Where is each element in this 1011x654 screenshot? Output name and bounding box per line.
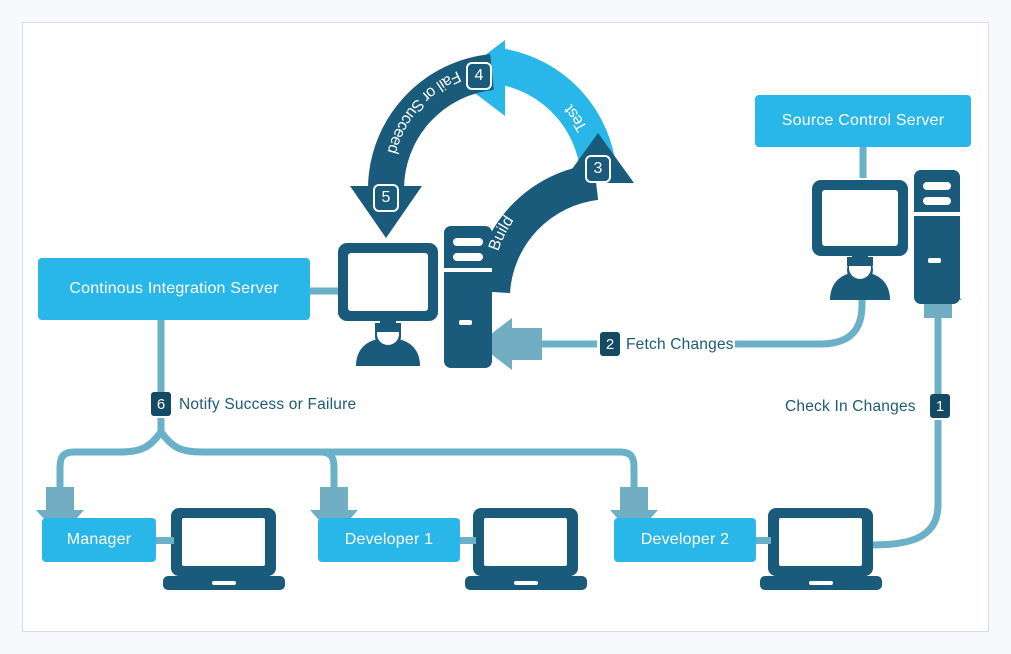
build-arc xyxy=(492,133,634,292)
notify-branch-dev1 xyxy=(161,432,334,487)
ci-tower-divider xyxy=(444,268,492,272)
diagram-page: Test Build Fail or Succeed Continous Int… xyxy=(0,0,1011,654)
ci-tower-led xyxy=(459,320,472,325)
manager-text: Manager xyxy=(67,531,132,549)
notify-branch-manager xyxy=(60,432,161,487)
scm-tower-led xyxy=(928,258,941,263)
step-1-text: Check In Changes xyxy=(785,398,916,415)
step-badge-6: 6 xyxy=(151,392,171,416)
step-label-notify: Notify Success or Failure xyxy=(179,396,356,414)
dev2-laptop-icon xyxy=(749,508,882,590)
scm-tower-icon xyxy=(914,170,960,304)
manager-laptop-icon xyxy=(152,508,285,590)
scm-tower-slot-1 xyxy=(923,182,951,190)
step-3-number: 3 xyxy=(594,160,603,178)
step-6-number: 6 xyxy=(157,396,165,413)
scm-monitor-screen xyxy=(822,190,898,246)
step-1-number: 1 xyxy=(936,398,944,415)
ci-tower-icon xyxy=(444,226,492,368)
step-badge-2: 2 xyxy=(600,332,620,356)
step-2-number: 2 xyxy=(606,336,614,353)
dev2-laptop-trackpad xyxy=(809,581,833,585)
manager-laptop-trackpad xyxy=(212,581,236,585)
node-label-developer-1[interactable]: Developer 1 xyxy=(318,518,460,562)
ci-tower-body xyxy=(444,226,492,368)
developer-2-text: Developer 2 xyxy=(641,531,729,549)
node-label-ci-server[interactable]: Continous Integration Server xyxy=(38,258,310,320)
step-badge-3: 3 xyxy=(585,155,611,183)
step-5-number: 5 xyxy=(382,189,391,207)
ci-tower-slot-1 xyxy=(453,238,483,246)
dev1-laptop-trackpad xyxy=(514,581,538,585)
step-badge-1: 1 xyxy=(930,394,950,418)
scm-computer-icon xyxy=(812,180,908,300)
node-label-manager[interactable]: Manager xyxy=(42,518,156,562)
dev1-laptop-icon xyxy=(454,508,587,590)
step-6-text: Notify Success or Failure xyxy=(179,396,356,413)
source-control-text: Source Control Server xyxy=(782,112,945,130)
node-label-developer-2[interactable]: Developer 2 xyxy=(614,518,756,562)
step-2-text: Fetch Changes xyxy=(626,336,734,353)
manager-laptop-screen xyxy=(182,518,265,566)
node-label-source-control[interactable]: Source Control Server xyxy=(755,95,971,147)
notify-branch xyxy=(60,432,634,487)
ci-user-hair xyxy=(375,323,401,332)
dev2-laptop-screen xyxy=(779,518,862,566)
ci-computer-icon xyxy=(338,243,438,366)
scm-tower-body xyxy=(914,170,960,304)
scm-tower-slot-2 xyxy=(923,197,951,205)
ci-monitor-screen xyxy=(348,253,428,311)
scm-tower-divider xyxy=(914,212,960,216)
ci-tower-slot-2 xyxy=(453,253,483,261)
step-badge-5: 5 xyxy=(373,184,399,212)
step-badge-4: 4 xyxy=(466,62,492,90)
developer-1-text: Developer 1 xyxy=(345,531,433,549)
step-label-check-in-changes: Check In Changes xyxy=(785,398,916,416)
notify-branch-dev2 xyxy=(205,452,634,487)
step-4-number: 4 xyxy=(475,67,484,85)
checkin-line-lower xyxy=(872,420,938,545)
step-label-fetch-changes: Fetch Changes xyxy=(626,336,734,354)
dev1-laptop-screen xyxy=(484,518,567,566)
checkin-path xyxy=(872,318,938,545)
ci-server-text: Continous Integration Server xyxy=(69,280,278,298)
scm-user-hair xyxy=(847,257,873,266)
